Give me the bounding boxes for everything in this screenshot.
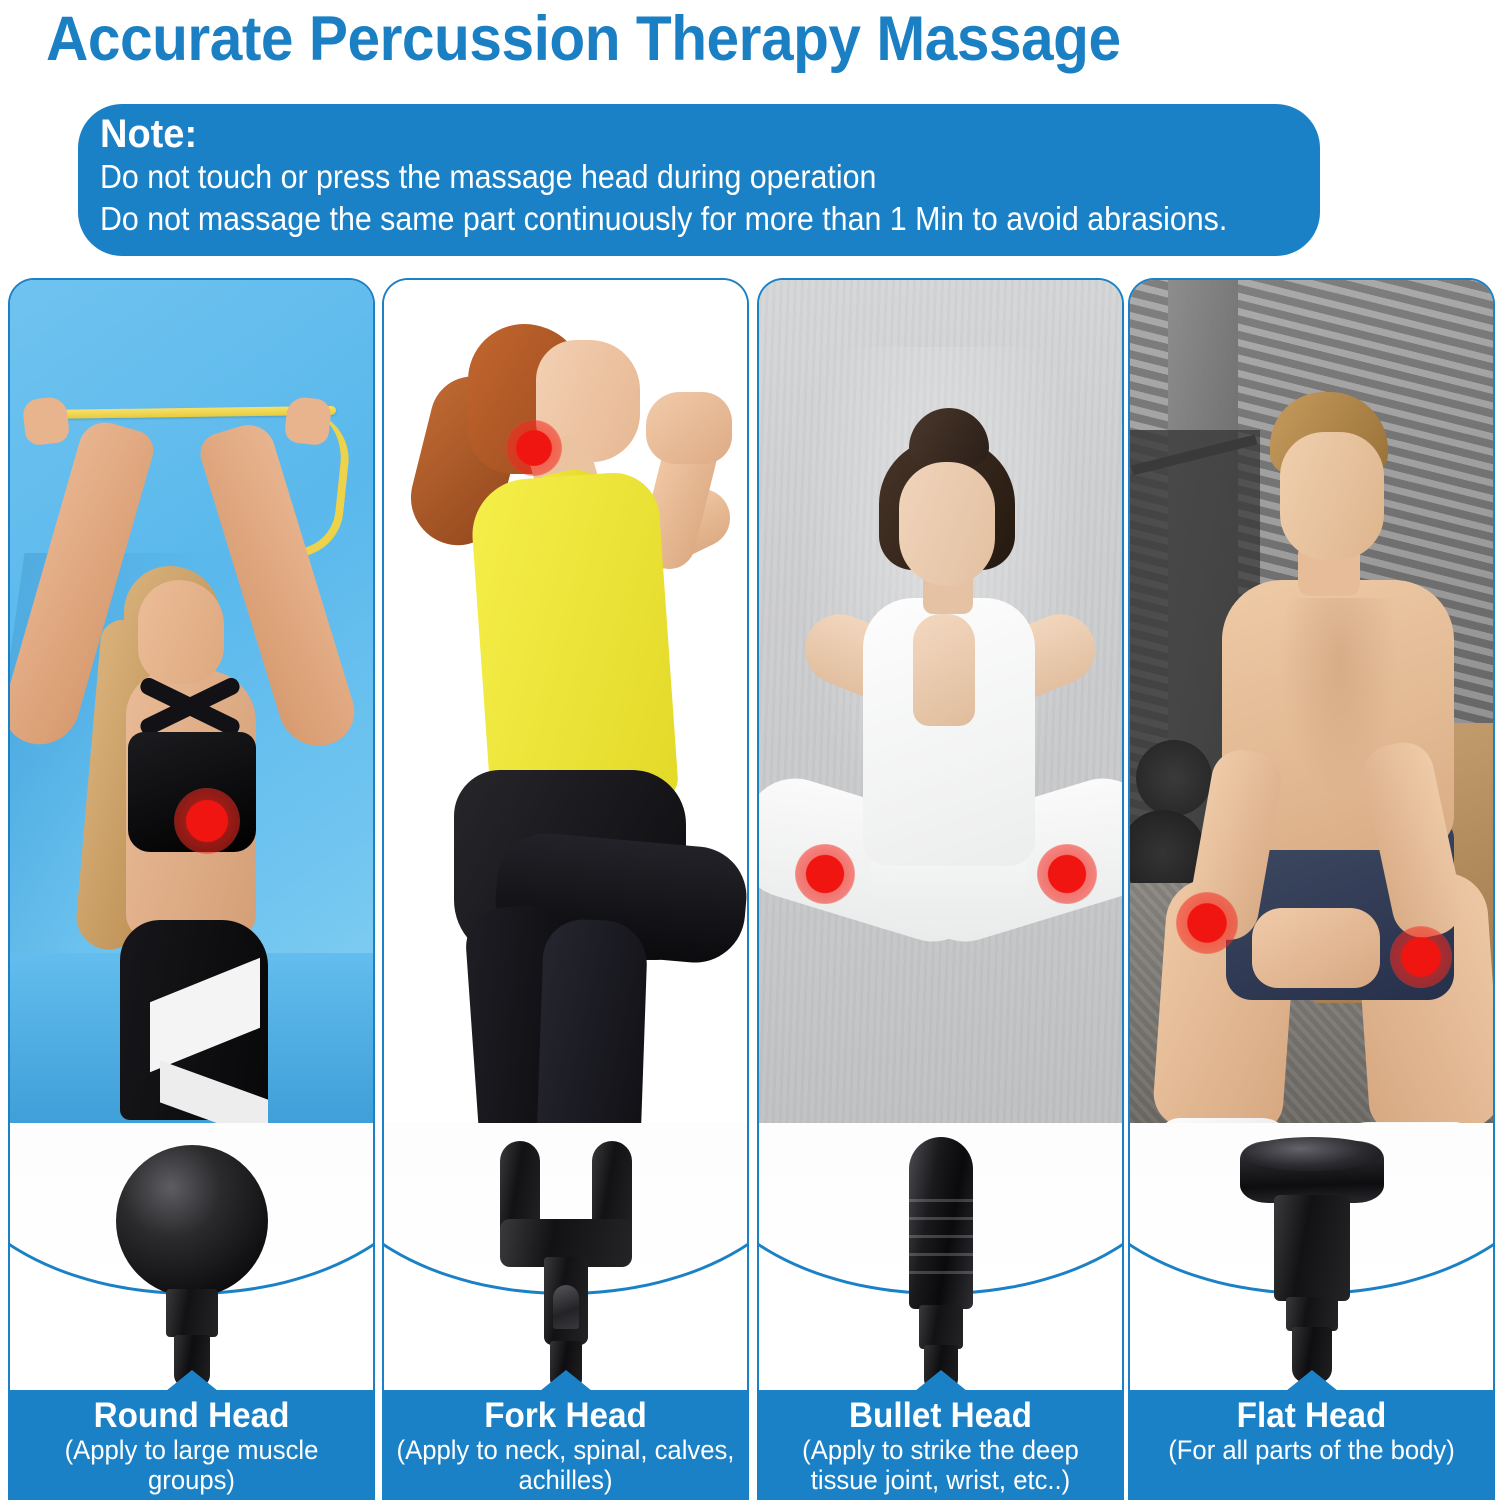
note-heading: Note: — [100, 112, 1259, 156]
label-fork-head: Fork Head (Apply to neck, spinal, calves… — [382, 1390, 749, 1500]
panel-fork-head[interactable]: Fork Head (Apply to neck, spinal, calves… — [382, 278, 749, 1500]
notch-arrow-icon — [540, 1370, 592, 1391]
attachment-name: Flat Head — [1137, 1396, 1486, 1435]
flat-head-icon — [1130, 1123, 1493, 1394]
photo-resistance-band-stretch — [10, 280, 373, 1123]
bullet-head-icon — [759, 1123, 1122, 1394]
attachment-name: Fork Head — [391, 1396, 740, 1435]
attachment-usage: (Apply to strike the deep tissue joint, … — [766, 1435, 1115, 1495]
fork-head-icon — [384, 1123, 747, 1394]
panel-bullet-head[interactable]: Bullet Head (Apply to strike the deep ti… — [757, 278, 1124, 1500]
attachment-display-round — [10, 1123, 373, 1394]
label-bullet-head: Bullet Head (Apply to strike the deep ti… — [757, 1390, 1124, 1500]
note-line-2: Do not massage the same part continuousl… — [100, 198, 1222, 240]
panel-flat-head[interactable]: Flat Head (For all parts of the body) — [1128, 278, 1495, 1500]
label-flat-head: Flat Head (For all parts of the body) — [1128, 1390, 1495, 1500]
notch-arrow-icon — [915, 1370, 967, 1391]
pain-marker-shoulder — [174, 788, 240, 854]
panel-round-head[interactable]: Round Head (Apply to large muscle groups… — [8, 278, 375, 1500]
note-callout: Note: Do not touch or press the massage … — [78, 104, 1320, 256]
photo-squat-exercise — [384, 280, 747, 1123]
attachment-display-fork — [384, 1123, 747, 1394]
attachment-usage: (For all parts of the body) — [1137, 1435, 1486, 1465]
pain-marker-hip-left — [795, 844, 855, 904]
attachment-usage: (Apply to neck, spinal, calves, achilles… — [391, 1435, 740, 1495]
pain-marker-neck — [506, 420, 562, 476]
attachment-display-flat — [1130, 1123, 1493, 1394]
photo-yoga-pose — [759, 280, 1122, 1123]
notch-arrow-icon — [1286, 1370, 1338, 1391]
pain-marker-hip-right — [1037, 844, 1097, 904]
pain-marker-elbow-left — [1176, 892, 1238, 954]
note-line-1: Do not touch or press the massage head d… — [100, 156, 1222, 198]
attachment-panel-row: Round Head (Apply to large muscle groups… — [0, 278, 1500, 1500]
attachment-usage: (Apply to large muscle groups) — [17, 1435, 366, 1495]
attachment-name: Round Head — [17, 1396, 366, 1435]
attachment-display-bullet — [759, 1123, 1122, 1394]
photo-gym-athlete — [1130, 280, 1493, 1123]
attachment-name: Bullet Head — [766, 1396, 1115, 1435]
notch-arrow-icon — [166, 1370, 218, 1391]
label-round-head: Round Head (Apply to large muscle groups… — [8, 1390, 375, 1500]
round-head-icon — [116, 1145, 268, 1297]
pain-marker-elbow-right — [1390, 926, 1452, 988]
page-title: Accurate Percussion Therapy Massage — [46, 6, 1121, 72]
